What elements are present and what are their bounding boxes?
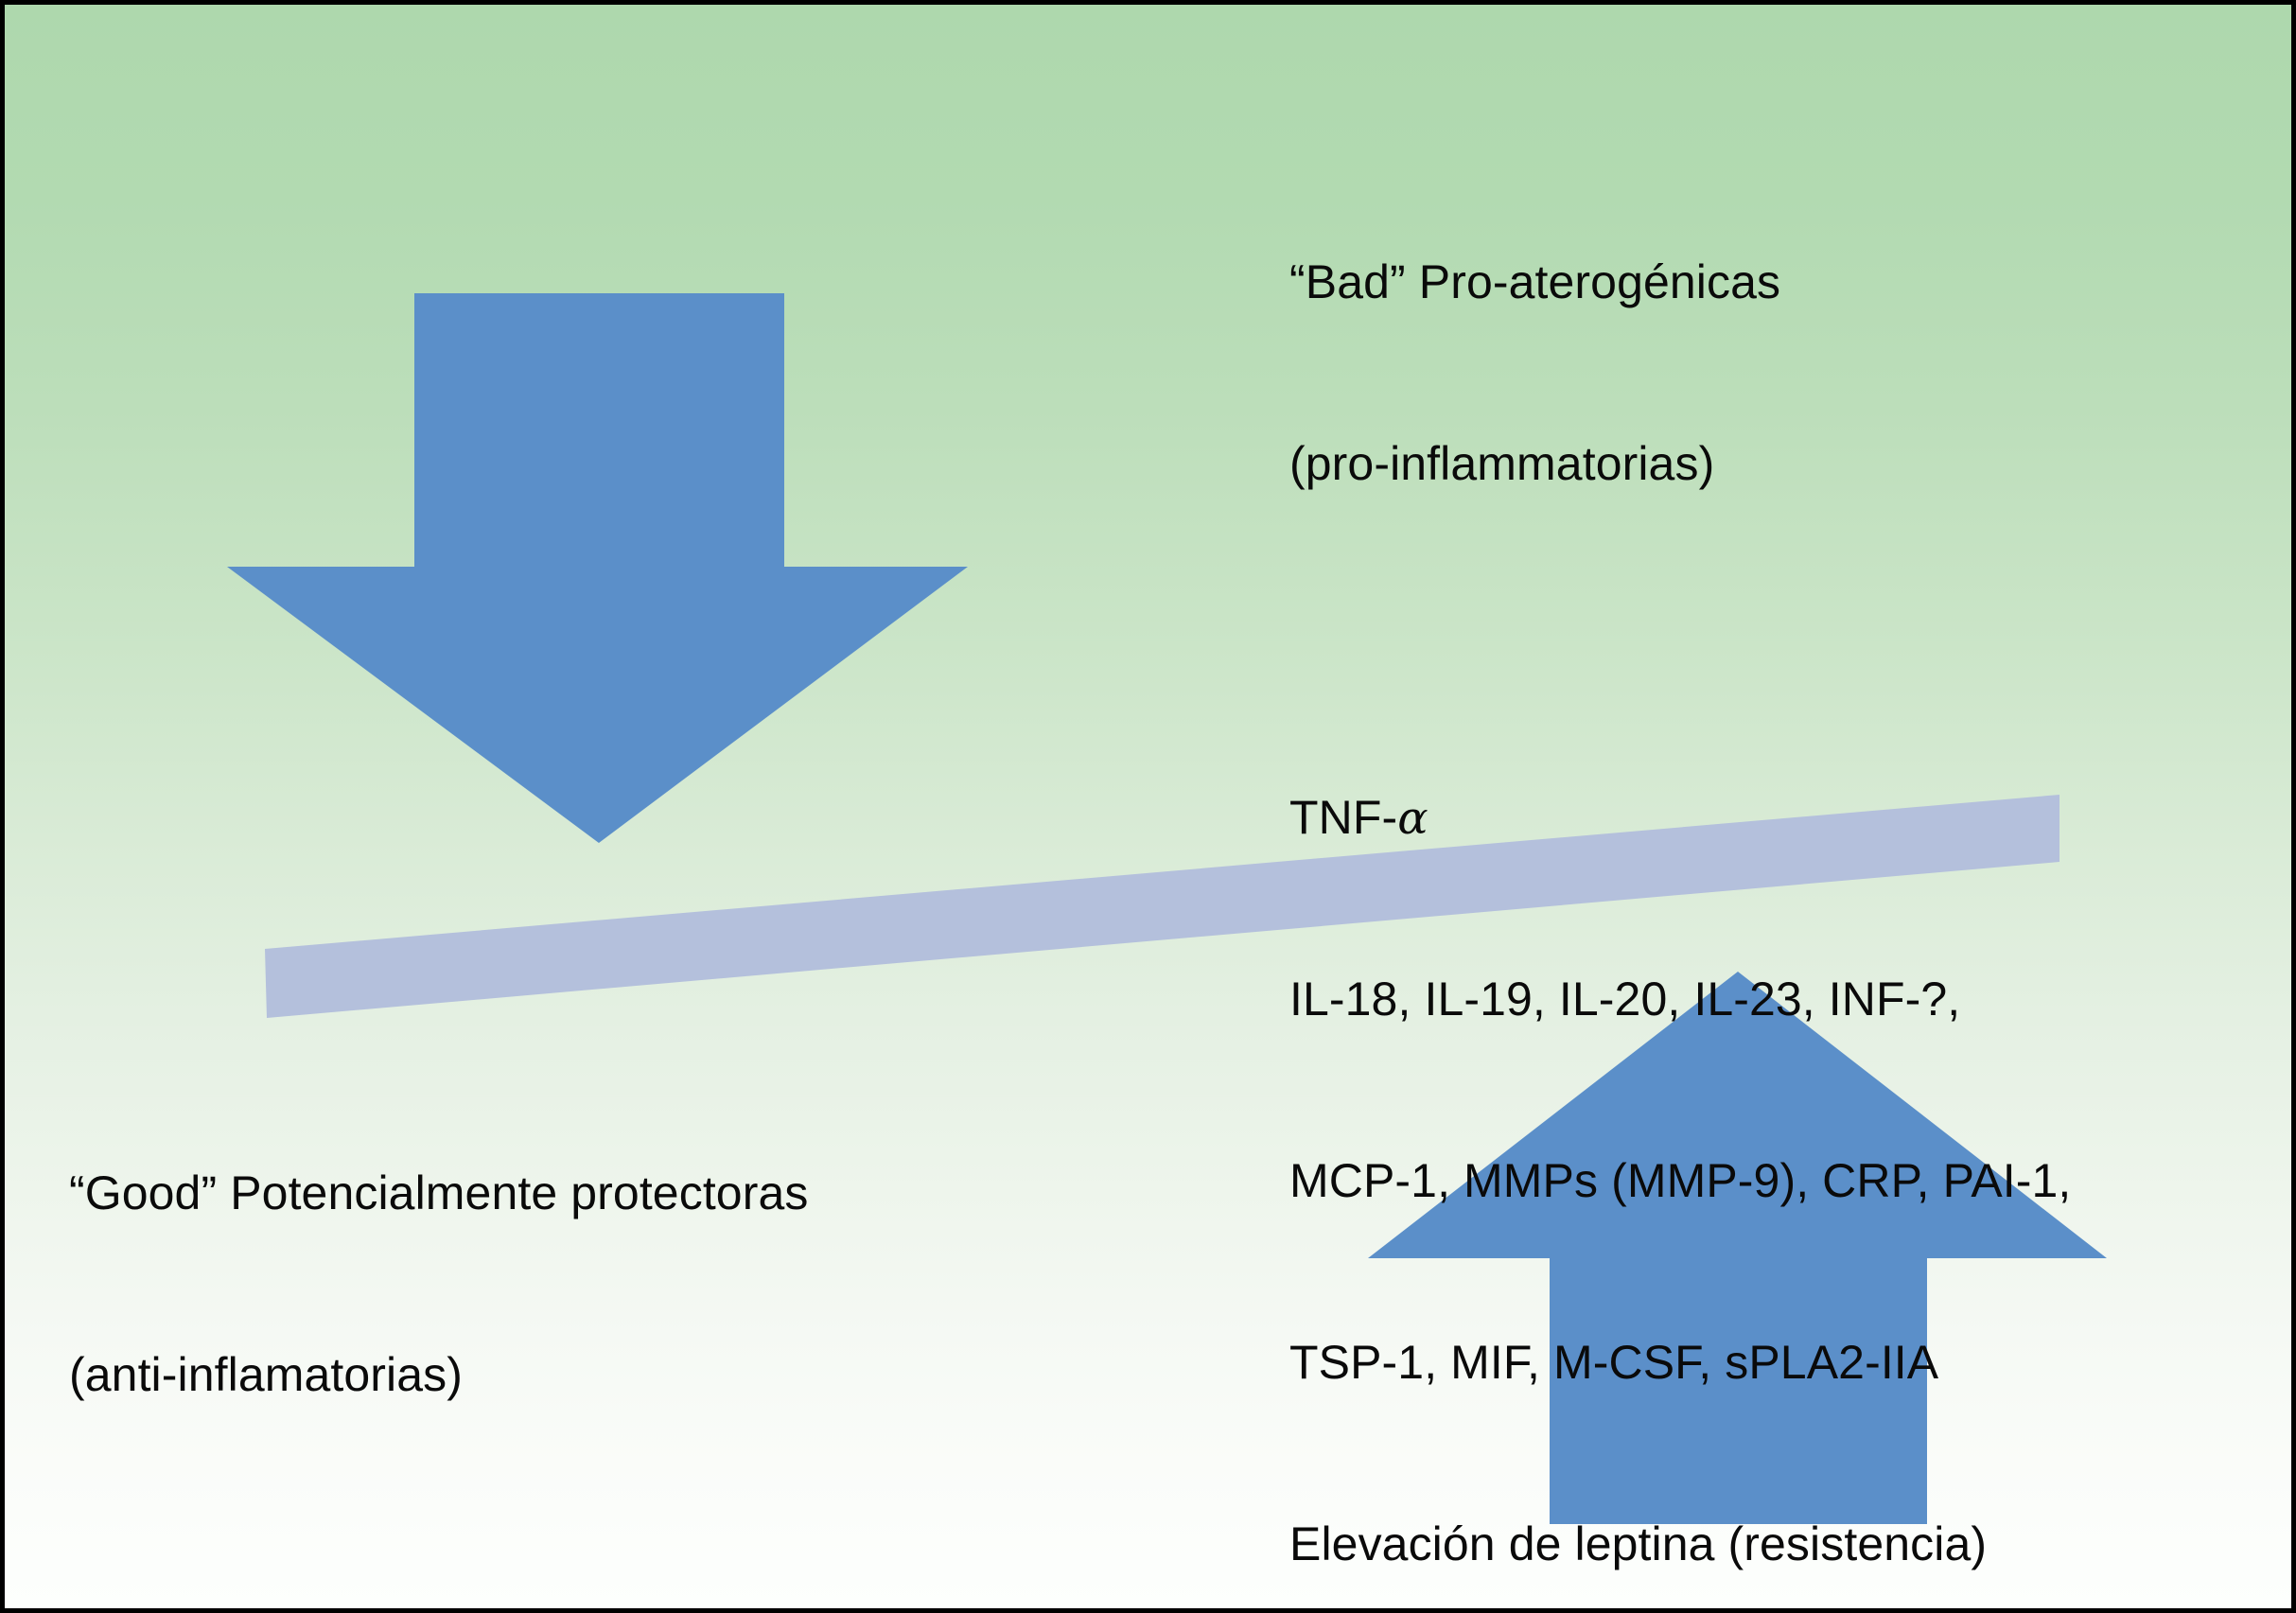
figure-container: “Bad” Pro-aterogénicas (pro-inflammatori… bbox=[0, 0, 2296, 1613]
greek-alpha-symbol: α bbox=[1397, 792, 1428, 845]
bad-item-tsp: TSP-1, MIF, M-CSF, sPLA2-IIA bbox=[1289, 1332, 2071, 1393]
down-arrow-icon bbox=[227, 293, 968, 843]
bad-heading-line-2: (pro-inflammatorias) bbox=[1289, 433, 2071, 494]
bad-spacer bbox=[1289, 615, 2071, 666]
bad-item-tnf: TNF-α bbox=[1289, 787, 2071, 848]
good-side-text-block: “Good” Potencialmente protectoras (anti-… bbox=[69, 1042, 808, 1613]
bad-heading-line-1: “Bad” Pro-aterogénicas bbox=[1289, 252, 2071, 312]
bad-side-text-block: “Bad” Pro-aterogénicas (pro-inflammatori… bbox=[1289, 131, 2071, 1613]
bad-item-leptin: Elevación de leptina (resistencia) bbox=[1289, 1514, 2071, 1574]
bad-item-tnf-label: TNF- bbox=[1289, 791, 1397, 844]
good-heading-line-1: “Good” Potencialmente protectoras bbox=[69, 1163, 808, 1223]
good-spacer bbox=[69, 1526, 808, 1577]
bad-item-interleukins-a: IL-18, IL-19, IL-20, IL-23, INF-?, bbox=[1289, 969, 2071, 1029]
bad-item-mcp: MCP-1, MMPs (MMP-9), CRP, PAI-1, bbox=[1289, 1150, 2071, 1211]
good-heading-line-2: (anti-inflamatorias) bbox=[69, 1344, 808, 1405]
